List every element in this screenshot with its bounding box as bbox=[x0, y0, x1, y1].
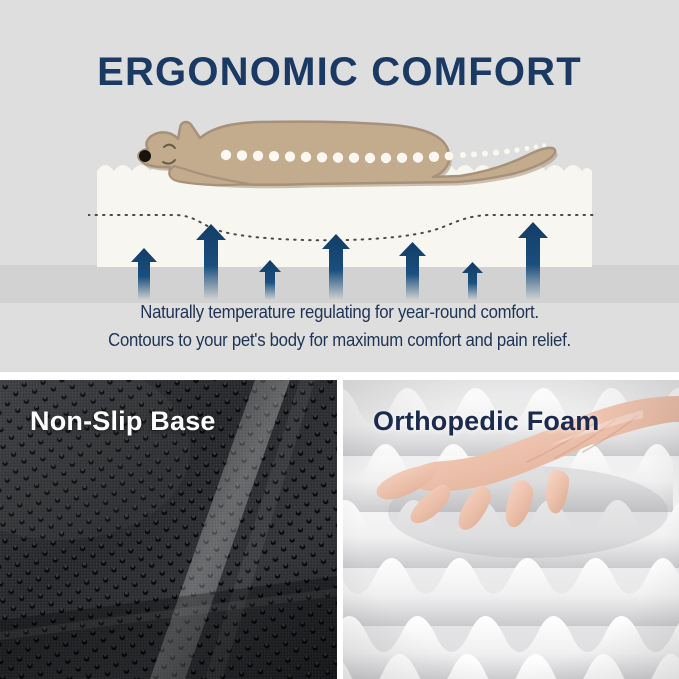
pressure-arrow-6 bbox=[462, 262, 483, 300]
pressure-arrow-1 bbox=[131, 248, 157, 300]
ergonomic-comfort-panel: ERGONOMIC COMFORT bbox=[0, 0, 679, 372]
pressure-arrow-3 bbox=[259, 260, 281, 300]
caption-line-1: Naturally temperature regulating for yea… bbox=[24, 298, 655, 326]
page-title: ERGONOMIC COMFORT bbox=[0, 52, 679, 92]
product-infographic: ERGONOMIC COMFORT bbox=[0, 0, 679, 679]
panel-orthopedic-foam: Orthopedic Foam bbox=[343, 380, 679, 679]
pressure-arrow-7 bbox=[518, 222, 548, 300]
pressure-arrow-2 bbox=[196, 224, 226, 300]
panel-label-orthopedic-foam: Orthopedic Foam bbox=[373, 406, 600, 437]
pressure-arrow-5 bbox=[399, 242, 426, 300]
pressure-arrow-4 bbox=[322, 234, 350, 300]
mattress-illustration bbox=[0, 110, 679, 300]
feature-panels-row: Non-Slip Base bbox=[0, 380, 679, 679]
feature-captions: Naturally temperature regulating for yea… bbox=[0, 298, 679, 354]
panel-label-non-slip-base: Non-Slip Base bbox=[30, 406, 216, 437]
panel-non-slip-base: Non-Slip Base bbox=[0, 380, 337, 679]
caption-line-2: Contours to your pet's body for maximum … bbox=[24, 326, 655, 354]
